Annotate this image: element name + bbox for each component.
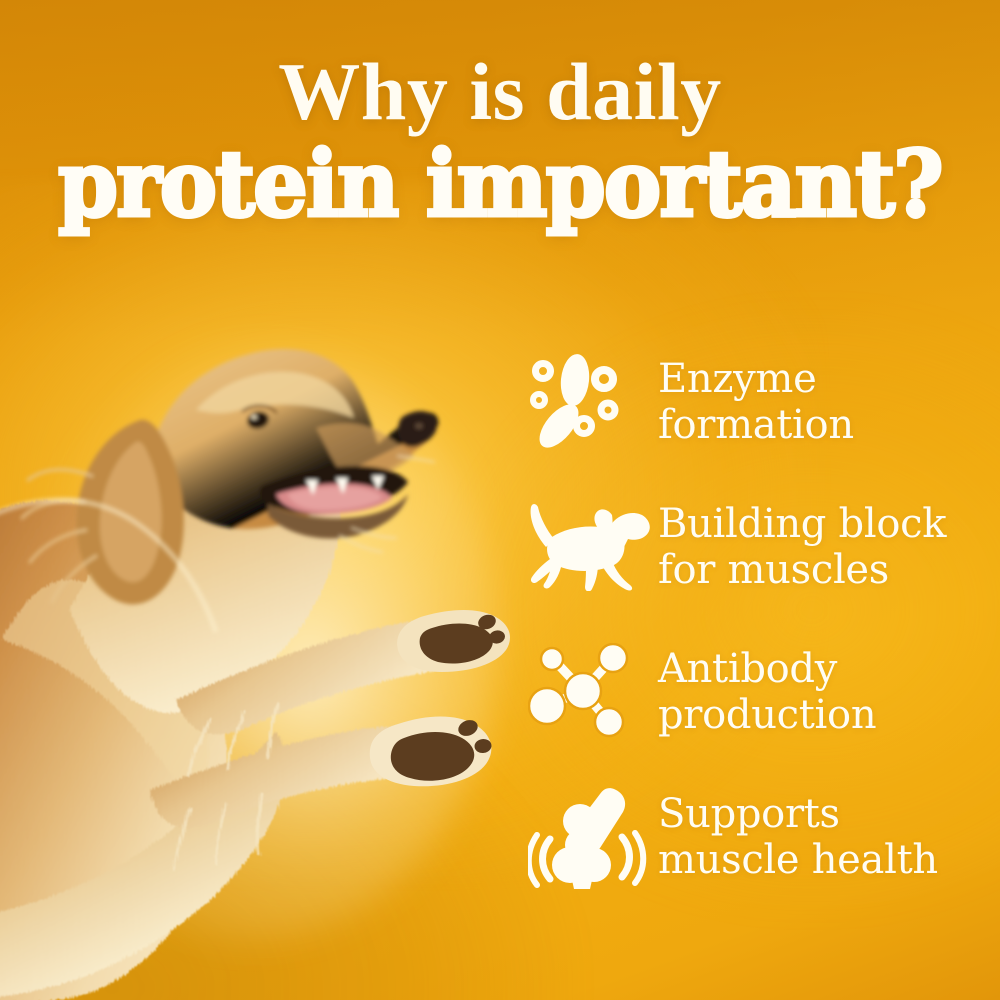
dog-walking-icon	[520, 497, 658, 597]
benefit-item-building-block: Building block for muscles	[520, 497, 990, 597]
joint-bone-icon	[520, 787, 658, 887]
benefits-list: Enzyme formation	[520, 352, 990, 887]
poster-title: Why is daily protein important?	[0, 52, 1000, 220]
benefit-label-muscle-health: Supports muscle health	[658, 791, 990, 884]
protein-benefits-poster: Why is daily protein important?	[0, 0, 1000, 1000]
benefit-label-building-block: Building block for muscles	[658, 501, 990, 594]
title-line-one: Why is daily	[0, 52, 1000, 132]
benefit-item-muscle-health: Supports muscle health	[520, 787, 990, 887]
benefit-label-enzyme: Enzyme formation	[658, 356, 990, 449]
enzyme-icon	[520, 352, 658, 452]
background-bottom-left-vignette	[0, 640, 580, 1000]
title-line-two: protein important?	[0, 138, 1000, 231]
benefit-item-antibody: Antibody production	[520, 642, 990, 742]
benefit-item-enzyme: Enzyme formation	[520, 352, 990, 452]
molecule-icon	[520, 642, 658, 742]
benefit-label-antibody: Antibody production	[658, 646, 990, 739]
